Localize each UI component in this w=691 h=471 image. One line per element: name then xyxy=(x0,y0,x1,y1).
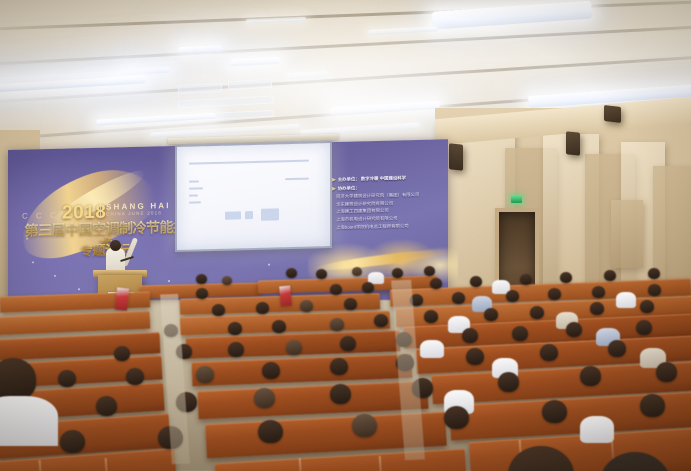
attendee-head xyxy=(484,308,498,321)
attendee-head xyxy=(352,414,377,437)
attendee-head xyxy=(344,298,357,310)
attendee-head xyxy=(340,336,356,351)
attendee-head xyxy=(592,286,605,298)
attendee-head xyxy=(114,346,130,361)
attendee-head xyxy=(590,302,604,315)
attendee-head xyxy=(374,314,388,327)
attendee-head xyxy=(604,270,616,281)
attendee-head xyxy=(300,300,313,312)
attendee-head xyxy=(548,288,561,300)
attendee-head xyxy=(228,322,242,335)
attendee-head xyxy=(196,288,208,299)
auditorium-photo: C C C F 2018 SHANG HAI CHINA JUNE 2018 第… xyxy=(0,0,691,471)
attendee-head xyxy=(126,368,144,385)
sponsor-list: ▶▶主办单位： 数字冷暖 中国建设科学 ▶▶协办单位： 同济大学建筑设计研究院（… xyxy=(328,173,448,231)
attendee-head xyxy=(636,320,652,335)
attendee-head xyxy=(640,300,654,313)
attendee-torso xyxy=(580,416,614,443)
projection-screen xyxy=(177,143,330,250)
attendee-head xyxy=(512,326,528,341)
attendee-head xyxy=(60,430,85,453)
attendee-head xyxy=(542,400,567,423)
red-banner xyxy=(279,286,292,307)
seat-row xyxy=(192,354,413,386)
speaker-head xyxy=(110,240,121,251)
attendee-torso xyxy=(616,292,636,308)
attendee-head xyxy=(648,268,660,279)
backdrop-title-line2: 专题论坛 xyxy=(50,238,160,260)
backdrop-city-sub: CHINA JUNE 2018 xyxy=(106,210,171,217)
attendee-head xyxy=(580,366,601,386)
attendee-head xyxy=(452,292,465,304)
attendee-head xyxy=(272,320,286,333)
attendee-head xyxy=(424,266,435,276)
attendee-head xyxy=(212,304,225,316)
attendee-head xyxy=(196,366,214,383)
attendee-head xyxy=(430,278,442,289)
attendee-head xyxy=(256,302,269,314)
attendee-head xyxy=(352,267,362,276)
attendee-head xyxy=(470,276,482,287)
attendee-head xyxy=(96,396,117,416)
attendee-head xyxy=(330,358,348,375)
attendee-head xyxy=(656,362,677,382)
attendee-head xyxy=(462,328,478,343)
attendee-head xyxy=(648,284,661,296)
sponsor-line: 上海board学院机电总工程师有限公司 xyxy=(328,221,448,232)
attendee-head xyxy=(222,276,232,285)
attendee-head xyxy=(262,362,280,379)
attendee-head xyxy=(560,272,572,283)
attendee-head xyxy=(330,318,344,331)
attendee-head xyxy=(530,306,544,319)
attendee-head xyxy=(498,372,519,392)
attendee-head xyxy=(520,274,532,285)
attendee-torso xyxy=(420,340,444,358)
wall-speaker xyxy=(604,105,621,123)
attendee-head xyxy=(640,394,665,417)
attendee-head xyxy=(316,269,327,279)
attendee-head xyxy=(392,268,403,278)
exit-sign-icon xyxy=(511,196,522,203)
attendee-head xyxy=(286,340,302,355)
attendee-head xyxy=(424,310,438,323)
attendee-head xyxy=(258,420,283,443)
attendee-head xyxy=(196,274,207,284)
sponsor-text: 协办单位： xyxy=(338,185,360,191)
projection-screen-frame xyxy=(175,141,332,252)
seat-row xyxy=(0,311,150,336)
backdrop-city: SHANG HAI CHINA JUNE 2018 xyxy=(100,201,171,217)
attendee-head xyxy=(444,406,469,429)
red-banner xyxy=(115,287,129,310)
attendee-head xyxy=(58,370,76,387)
attendee-head xyxy=(228,342,244,357)
attendee-head xyxy=(254,388,275,408)
attendee-head xyxy=(540,344,558,361)
sponsor-text: 主办单位： 数字冷暖 中国建设科学 xyxy=(338,175,406,182)
attendee-head xyxy=(608,340,626,357)
attendee-head xyxy=(286,268,297,278)
wall-speaker xyxy=(449,143,463,170)
attendee-head xyxy=(362,282,374,293)
seating-area xyxy=(0,300,691,471)
attendee-head xyxy=(330,284,342,295)
attendee-head xyxy=(566,322,582,337)
attendee-head xyxy=(506,290,519,302)
attendee-head xyxy=(466,348,484,365)
wall-speaker xyxy=(566,131,580,155)
attendee-head xyxy=(330,384,351,404)
